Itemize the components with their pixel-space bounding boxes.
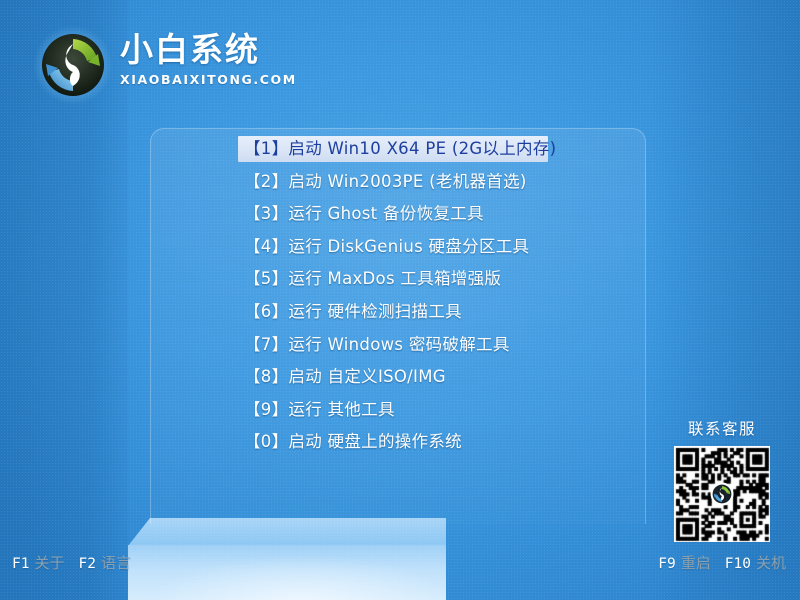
fkey-f10-label[interactable]: 关机	[756, 554, 786, 572]
brand-text: 小白系统 XIAOBAIXITONG.COM	[120, 30, 290, 88]
menu-item[interactable]: 【9】运行 其他工具	[150, 397, 646, 423]
brand-name-en: XIAOBAIXITONG.COM	[120, 72, 290, 88]
fkey-f2[interactable]: F2	[78, 556, 95, 572]
menu-item[interactable]: 【1】启动 Win10 X64 PE (2G以上内存)	[238, 136, 548, 162]
brand-logo: 小白系统 XIAOBAIXITONG.COM	[34, 22, 284, 108]
menu-item[interactable]: 【3】运行 Ghost 备份恢复工具	[150, 201, 646, 227]
footer-keys-right: F9重启F10关机	[658, 552, 786, 575]
recycle-arrows-logo-icon	[34, 26, 112, 104]
menu-item[interactable]: 【0】启动 硬盘上的操作系统	[150, 429, 646, 455]
footer-keys-left: F1关于F2语言	[12, 552, 131, 575]
qr-code	[674, 446, 770, 542]
fkey-f10[interactable]: F10	[725, 556, 751, 572]
menu-item[interactable]: 【2】启动 Win2003PE (老机器首选)	[150, 169, 646, 195]
brand-name-cn: 小白系统	[120, 30, 290, 70]
contact-support-label: 联系客服	[666, 418, 778, 440]
fkey-f1-label[interactable]: 关于	[34, 554, 64, 572]
menu-item[interactable]: 【8】启动 自定义ISO/IMG	[150, 364, 646, 390]
pedestal-front-face	[128, 545, 446, 600]
fkey-f9-label[interactable]: 重启	[681, 554, 711, 572]
boot-menu-screen: 小白系统 XIAOBAIXITONG.COM 【1】启动 Win10 X64 P…	[0, 0, 800, 600]
menu-item[interactable]: 【7】运行 Windows 密码破解工具	[150, 332, 646, 358]
menu-item[interactable]: 【4】运行 DiskGenius 硬盘分区工具	[150, 234, 646, 260]
qr-center-brand-logo-icon	[712, 484, 732, 504]
boot-menu-list[interactable]: 【1】启动 Win10 X64 PE (2G以上内存) 【2】启动 Win200…	[150, 136, 646, 462]
fkey-f2-label[interactable]: 语言	[101, 554, 131, 572]
menu-item[interactable]: 【5】运行 MaxDos 工具箱增强版	[150, 266, 646, 292]
fkey-f1[interactable]: F1	[12, 556, 29, 572]
menu-item[interactable]: 【6】运行 硬件检测扫描工具	[150, 299, 646, 325]
fkey-f9[interactable]: F9	[658, 556, 675, 572]
contact-support: 联系客服	[666, 418, 778, 542]
